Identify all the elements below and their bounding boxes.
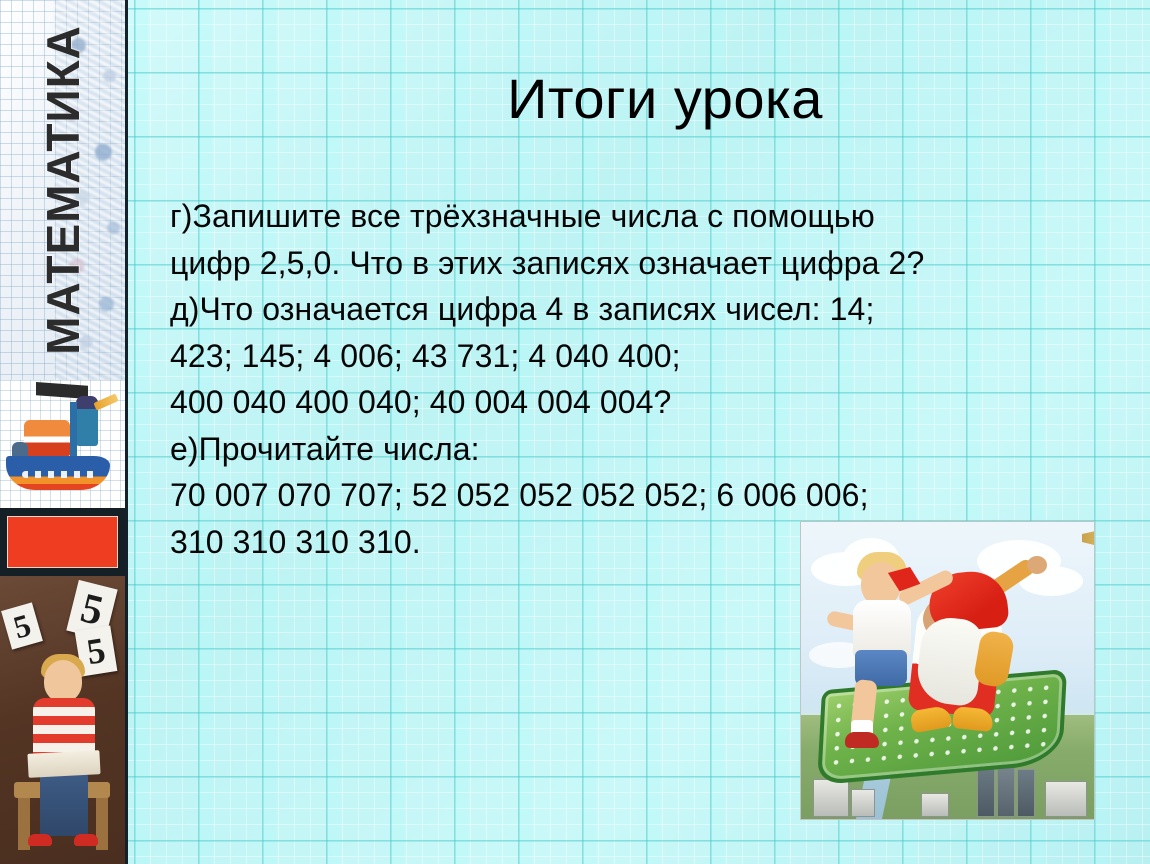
sidebar-panel-pirate-ship — [0, 380, 125, 508]
boy-shoe-left — [28, 834, 52, 846]
text-line-4: 423; 145; 4 006; 43 731; 4 040 400; — [170, 333, 1070, 380]
ship-portholes — [22, 471, 96, 478]
lesson-summary-text-block: г)Запишите все трёхзначные числа с помощ… — [170, 193, 1070, 565]
building-1 — [813, 779, 849, 817]
boy-head — [44, 660, 82, 702]
text-line-7: 70 007 070 707; 52 052 052 052 052; 6 00… — [170, 472, 1070, 519]
text-line-3: д)Что означается цифра 4 в записях чисел… — [170, 286, 1070, 333]
text-line-6: е)Прочитайте числа: — [170, 426, 1070, 473]
sidebar-textbook-cover-strip: МАТЕМАТИКА 5 5 5 — [0, 0, 128, 864]
building-7 — [921, 793, 949, 817]
textbook-title-vertical: МАТЕМАТИКА — [36, 25, 90, 355]
presentation-slide: МАТЕМАТИКА 5 5 5 — [0, 0, 1150, 864]
open-book-icon — [27, 750, 100, 778]
text-line-5: 400 040 400 040; 40 004 004 004? — [170, 379, 1070, 426]
building-5 — [1017, 769, 1035, 817]
red-block-fill — [7, 516, 118, 568]
building-3 — [977, 763, 995, 817]
boy-jeans — [40, 772, 88, 836]
text-line-1: г)Запишите все трёхзначные числа с помощ… — [170, 193, 1070, 240]
sidebar-panel-red-block — [0, 508, 125, 576]
ship-mast — [70, 402, 77, 458]
building-2 — [851, 789, 875, 817]
page-title: Итоги урока — [385, 66, 945, 132]
slide-content-area: Итоги урока г)Запишите все трёхзначные ч… — [128, 0, 1150, 864]
spyglass-icon — [93, 393, 118, 410]
sidebar-panel-cover-title: МАТЕМАТИКА — [0, 0, 125, 380]
grade-five-card-1: 5 — [1, 602, 43, 649]
boy-shoe-right — [74, 834, 98, 846]
old-man-hand — [1027, 556, 1047, 574]
magic-carpet-illustration — [800, 521, 1095, 820]
sidebar-panel-boy-reading: 5 5 5 — [0, 576, 125, 864]
text-line-2: цифр 2,5,0. Что в этих записях означает … — [170, 240, 1070, 287]
building-6 — [1045, 781, 1087, 817]
boy-red-shoe — [845, 732, 879, 748]
ship-sail — [24, 420, 70, 456]
